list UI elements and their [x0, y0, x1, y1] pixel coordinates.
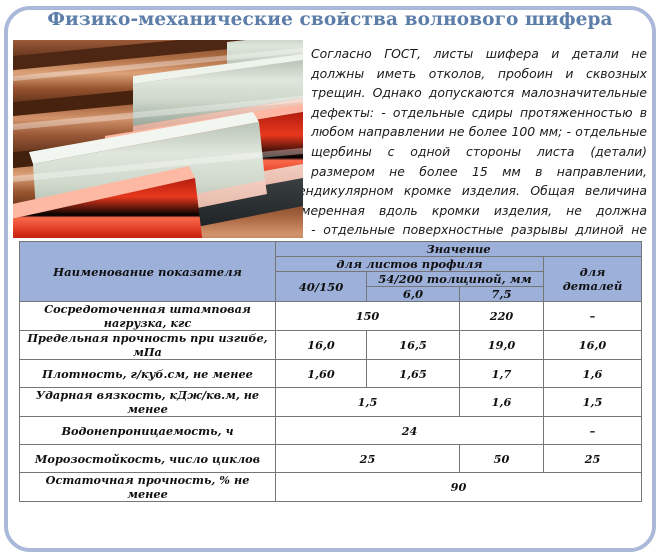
- header-name-col: Наименование показателя: [20, 242, 276, 302]
- header-profile-54-200: 54/200 толщиной, мм: [367, 272, 544, 287]
- spec-table-body: Сосредоточенная штамповая нагрузка, кгс1…: [20, 302, 642, 502]
- row-value: 1,60: [276, 360, 367, 388]
- table-row: Морозостойкость, число циклов255025: [20, 445, 642, 473]
- row-name: Остаточная прочность, % не менее: [20, 473, 276, 502]
- row-value: 1,6: [460, 388, 544, 417]
- row-value: 50: [460, 445, 544, 473]
- page-title: Физико-механические свойства волнового ш…: [24, 9, 636, 30]
- spec-table: Наименование показателя Значение для лис…: [19, 241, 642, 502]
- row-value: 1,5: [276, 388, 460, 417]
- header-row-1: Наименование показателя Значение: [20, 242, 642, 257]
- row-value: 90: [276, 473, 642, 502]
- row-value: 19,0: [460, 331, 544, 360]
- row-value: 1,6: [544, 360, 642, 388]
- header-thickness-60: 6,0: [367, 287, 460, 302]
- corrugated-slate-illustration: [13, 40, 303, 238]
- row-value: –: [544, 417, 642, 445]
- row-value: 1,65: [367, 360, 460, 388]
- table-row: Водонепроницаемость, ч24–: [20, 417, 642, 445]
- table-row: Остаточная прочность, % не менее90: [20, 473, 642, 502]
- row-value: 220: [460, 302, 544, 331]
- row-value: 24: [276, 417, 544, 445]
- table-row: Ударная вязкость, кДж/кв.м, не менее1,51…: [20, 388, 642, 417]
- header-value-group: Значение: [276, 242, 642, 257]
- row-name: Предельная прочность при изгибе, мПа: [20, 331, 276, 360]
- row-value: 16,0: [276, 331, 367, 360]
- row-value: 1,7: [460, 360, 544, 388]
- header-profile-40-150: 40/150: [276, 272, 367, 302]
- article-body: Согласно ГОСТ, листы шифера и детали не …: [13, 40, 647, 238]
- row-value: 25: [544, 445, 642, 473]
- row-value: 16,0: [544, 331, 642, 360]
- row-value: –: [544, 302, 642, 331]
- row-value: 16,5: [367, 331, 460, 360]
- table-row: Сосредоточенная штамповая нагрузка, кгс1…: [20, 302, 642, 331]
- row-value: 1,5: [544, 388, 642, 417]
- table-row: Предельная прочность при изгибе, мПа16,0…: [20, 331, 642, 360]
- document-page: Физико-механические свойства волнового ш…: [0, 0, 660, 557]
- row-value: 25: [276, 445, 460, 473]
- row-value: 150: [276, 302, 460, 331]
- header-sheets-group: для листов профиля: [276, 257, 544, 272]
- row-name: Ударная вязкость, кДж/кв.м, не менее: [20, 388, 276, 417]
- row-name: Водонепроницаемость, ч: [20, 417, 276, 445]
- row-name: Сосредоточенная штамповая нагрузка, кгс: [20, 302, 276, 331]
- header-details-col: для деталей: [544, 257, 642, 302]
- spec-table-wrapper: Наименование показателя Значение для лис…: [19, 241, 641, 502]
- row-name: Плотность, г/куб.см, не менее: [20, 360, 276, 388]
- slate-sheets-photo: [13, 40, 303, 238]
- header-thickness-75: 7,5: [460, 287, 544, 302]
- row-name: Морозостойкость, число циклов: [20, 445, 276, 473]
- spec-table-head: Наименование показателя Значение для лис…: [20, 242, 642, 302]
- table-row: Плотность, г/куб.см, не менее1,601,651,7…: [20, 360, 642, 388]
